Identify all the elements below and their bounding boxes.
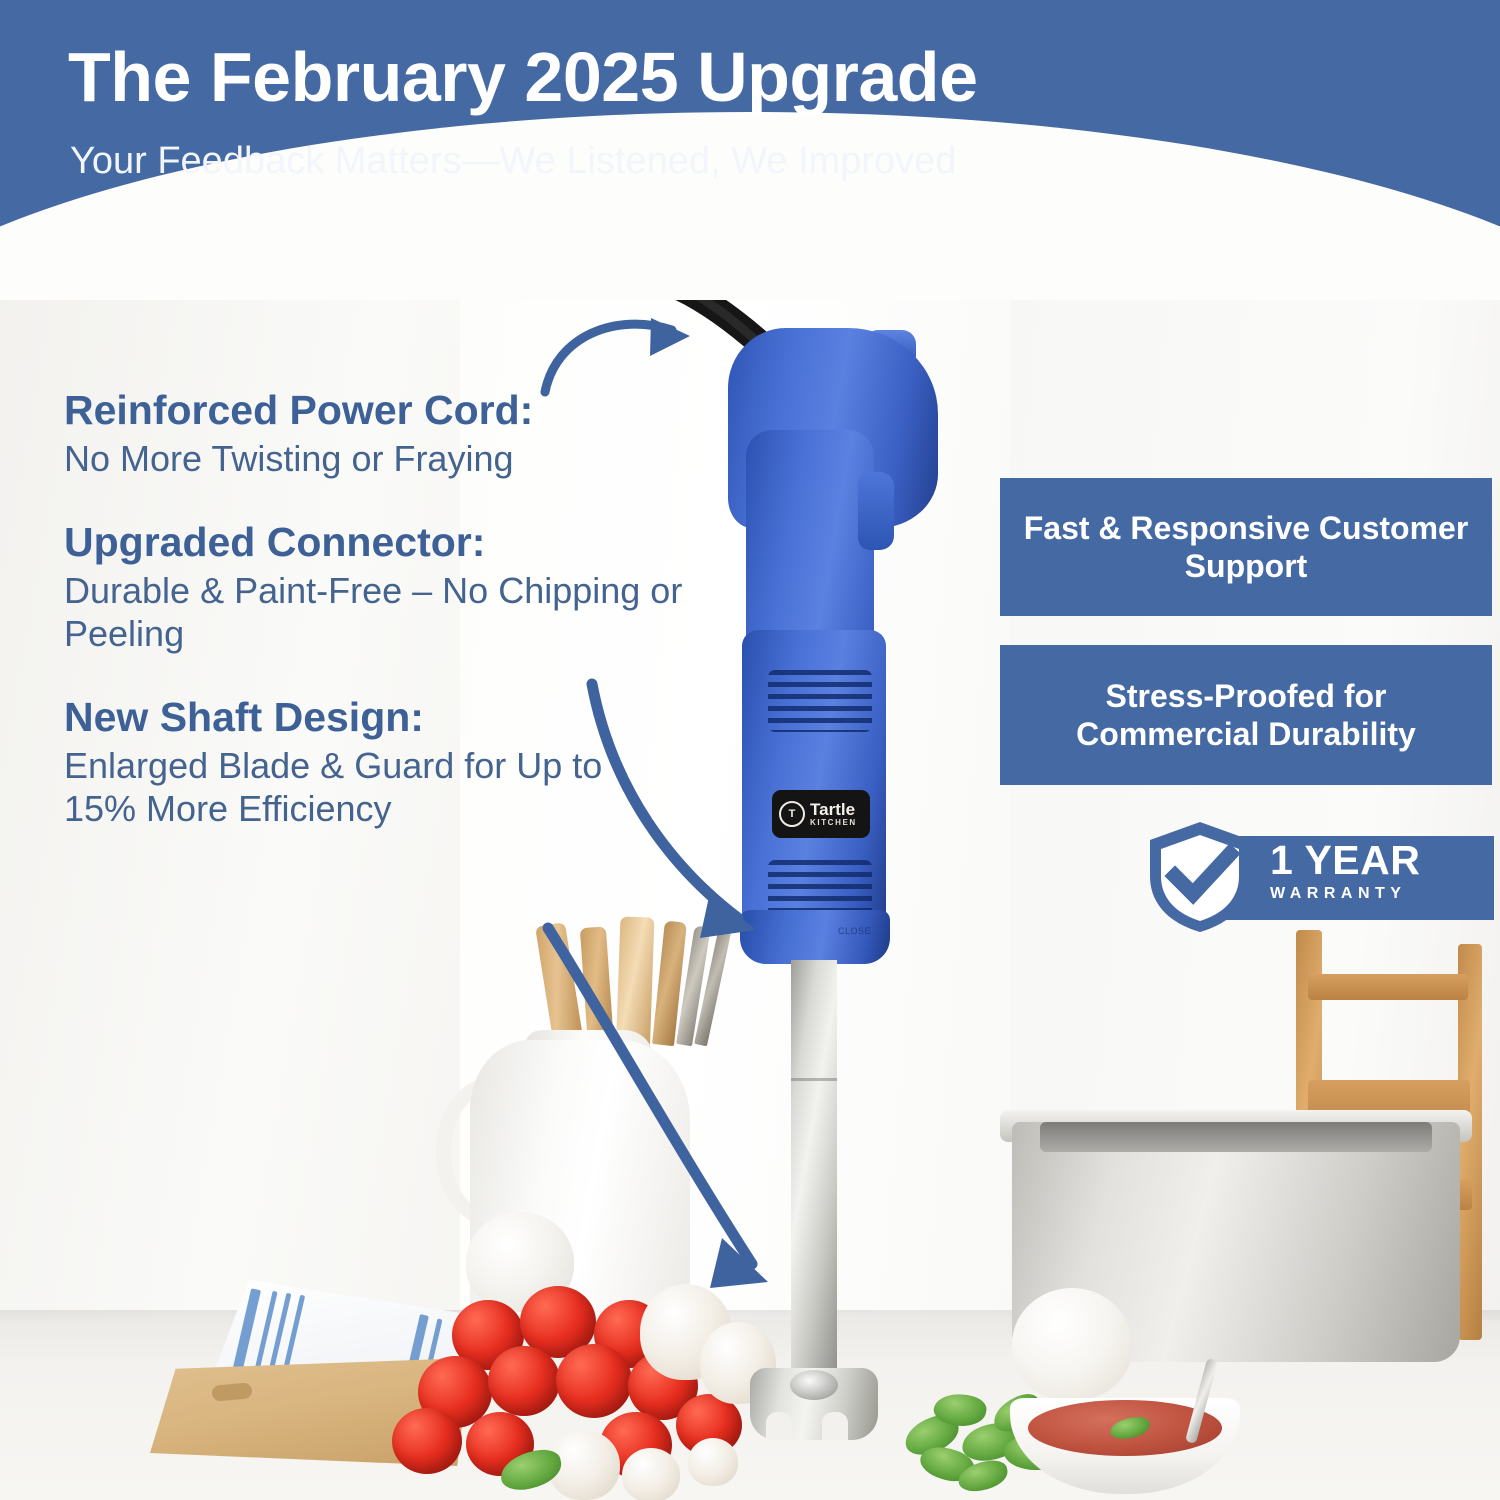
info-bar-durability: Stress-Proofed for Commercial Durability	[1000, 645, 1492, 785]
warranty-label: WARRANTY	[1270, 885, 1492, 903]
header-banner: The February 2025 Upgrade Your Feedback …	[0, 0, 1500, 300]
feature-title: Upgraded Connector:	[64, 520, 684, 566]
blade-guard-notch-right	[822, 1412, 848, 1440]
shield-check-icon	[1142, 818, 1258, 936]
blade-guard-notch-left	[766, 1412, 792, 1440]
warranty-duration: 1 YEAR	[1270, 840, 1492, 881]
power-trigger-button[interactable]	[858, 472, 894, 550]
feature-item-power-cord: Reinforced Power Cord: No More Twisting …	[64, 388, 684, 480]
shaft-connector-collar	[740, 910, 890, 964]
warranty-badge: 1 YEAR WARRANTY	[1142, 818, 1494, 936]
air-vent-top	[768, 670, 872, 732]
feature-description: No More Twisting or Fraying	[64, 438, 684, 480]
page-subtitle: Your Feedback Matters—We Listened, We Im…	[70, 142, 956, 180]
info-bar-text: Stress-Proofed for Commercial Durability	[1014, 677, 1478, 754]
stainless-steel-shaft	[791, 960, 837, 1380]
feature-title: New Shaft Design:	[64, 695, 684, 741]
feature-item-connector: Upgraded Connector: Durable & Paint-Free…	[64, 520, 684, 655]
brand-logo-plate: T Tartle KITCHEN	[772, 790, 870, 838]
blade-hub	[790, 1370, 838, 1400]
page-title: The February 2025 Upgrade	[68, 42, 978, 112]
feature-list: Reinforced Power Cord: No More Twisting …	[64, 388, 684, 870]
feature-title: Reinforced Power Cord:	[64, 388, 684, 434]
brand-subtitle: KITCHEN	[810, 819, 857, 827]
tartle-circle-icon: T	[779, 801, 805, 827]
collar-marking-label: CLOSE	[838, 926, 871, 936]
feature-description: Durable & Paint-Free – No Chipping or Pe…	[64, 570, 684, 655]
info-bar-customer-support: Fast & Responsive Customer Support	[1000, 478, 1492, 616]
feature-description: Enlarged Blade & Guard for Up to 15% Mor…	[64, 745, 684, 830]
logo-mark-letter: T	[789, 809, 796, 820]
brand-name: Tartle	[810, 801, 857, 818]
info-bar-text: Fast & Responsive Customer Support	[1014, 509, 1478, 586]
infographic-canvas: T Tartle KITCHEN CLOSE	[0, 0, 1500, 1500]
gastronorm-pan-interior	[1040, 1122, 1432, 1152]
shaft-seam	[791, 1078, 837, 1081]
feature-item-shaft-design: New Shaft Design: Enlarged Blade & Guard…	[64, 695, 684, 830]
